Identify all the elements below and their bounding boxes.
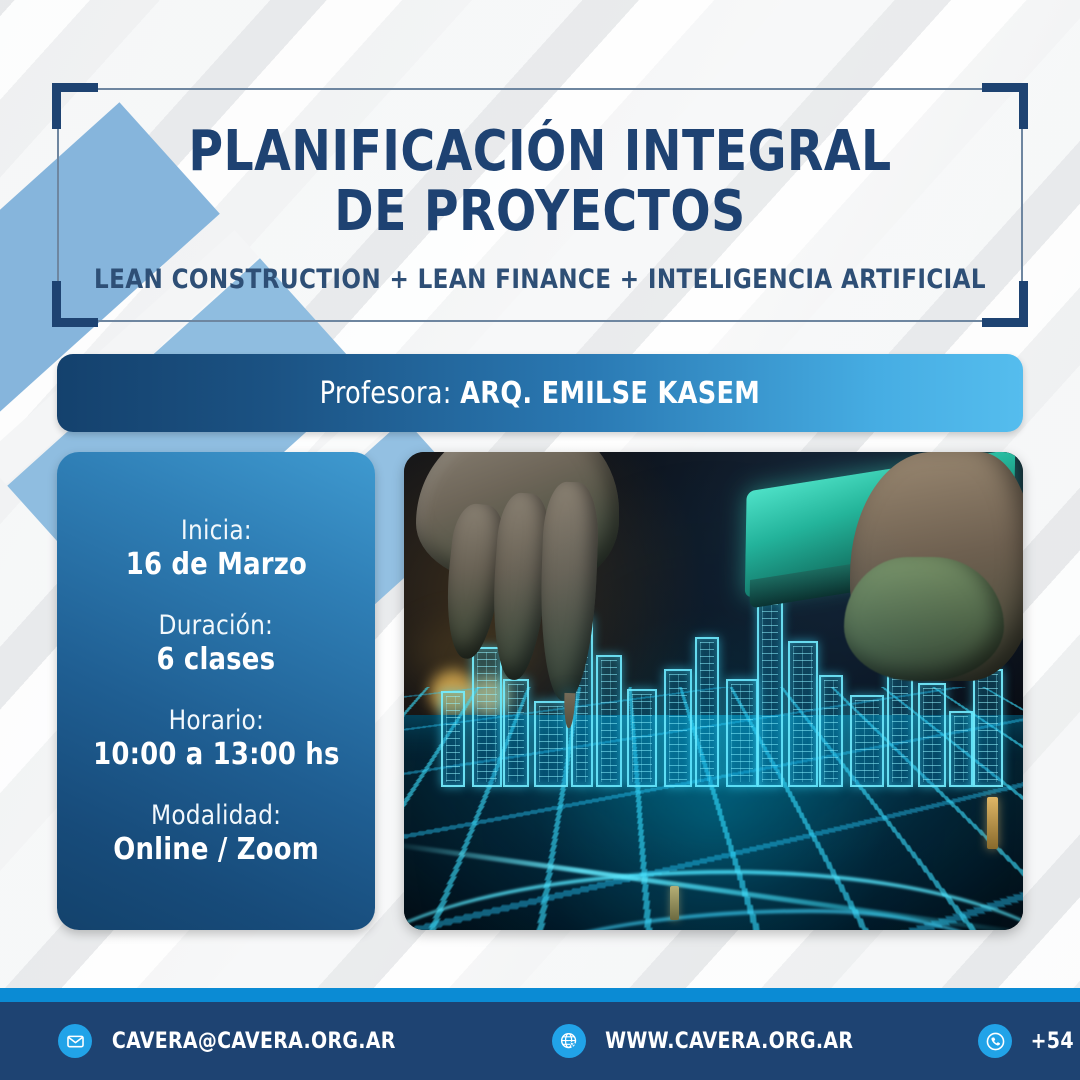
right-hand-lower [844,557,1005,681]
info-label: Duración: [157,609,276,642]
info-label: Modalidad: [113,799,319,832]
hologram-tower [850,695,884,787]
hologram-tower [695,637,719,787]
contact-email[interactable]: CAVERA@CAVERA.ORG.AR [58,1024,402,1058]
title-subtitle: LEAN CONSTRUCTION + LEAN FINANCE + INTEL… [81,264,999,295]
info-item-duracion: Duración: 6 clases [154,609,278,678]
frame-line-bottom [57,320,1023,322]
contact-email-text: CAVERA@CAVERA.ORG.AR [112,1029,396,1054]
hero-scene [404,452,1023,930]
professor-name: ARQ. EMILSE KASEM [460,376,760,411]
professor-label: Profesora: [320,376,452,411]
info-value: 10:00 a 13:00 hs [93,737,339,773]
info-value: Online / Zoom [113,832,319,868]
hologram-tower [788,641,818,787]
hologram-tower [726,679,758,787]
info-item-inicia: Inicia: 16 de Marzo [122,514,311,583]
hologram-tower [627,689,657,787]
contact-website[interactable]: WWW.CAVERA.ORG.AR [552,1024,858,1058]
footer-contact-bar: CAVERA@CAVERA.ORG.AR WWW.CAVERA.ORG.AR [0,1002,1080,1080]
hologram-tower [503,679,529,787]
info-value: 6 clases [157,642,276,678]
info-item-horario: Horario: 10:00 a 13:00 hs [88,704,345,773]
title-line-1: PLANIFICACIÓN INTEGRAL [86,122,994,182]
hero-image-holographic-city [404,452,1023,930]
course-info-panel: Inicia: 16 de Marzo Duración: 6 clases H… [57,452,375,930]
frame-line-top [57,88,1023,90]
globe-cursor-icon [552,1024,586,1058]
hologram-tower [918,683,946,787]
footer-accent-stripe [0,988,1080,1002]
hologram-tower [757,599,783,787]
hologram-tower [949,711,973,787]
info-value: 16 de Marzo [125,547,306,583]
info-label: Inicia: [125,514,306,547]
professor-banner: Profesora: ARQ. EMILSE KASEM [57,354,1023,432]
info-label: Horario: [93,704,339,737]
title-frame: PLANIFICACIÓN INTEGRAL DE PROYECTOS LEAN… [57,88,1023,322]
hologram-tower [973,669,1003,787]
contact-website-text: WWW.CAVERA.ORG.AR [605,1029,853,1054]
phone-icon [978,1024,1012,1058]
left-hand-pointing [416,452,676,691]
finger [537,481,599,702]
contact-phone-text: +54 9 11 6106-6823 [1031,1029,1080,1054]
hologram-tower [819,675,843,787]
hologram-tower [534,701,568,787]
hologram-tower [441,691,465,787]
contact-phone[interactable]: +54 9 11 6106-6823 [978,1024,1080,1058]
envelope-icon [58,1024,92,1058]
hologram-marker-post [670,886,679,920]
page-title: PLANIFICACIÓN INTEGRAL DE PROYECTOS LEAN… [57,122,1023,295]
hologram-marker-post [987,797,998,849]
info-item-modalidad: Modalidad: Online / Zoom [109,799,323,868]
professor-text: Profesora: ARQ. EMILSE KASEM [320,376,761,411]
title-line-2: DE PROYECTOS [86,182,994,242]
flyer-canvas: PLANIFICACIÓN INTEGRAL DE PROYECTOS LEAN… [0,0,1080,1080]
